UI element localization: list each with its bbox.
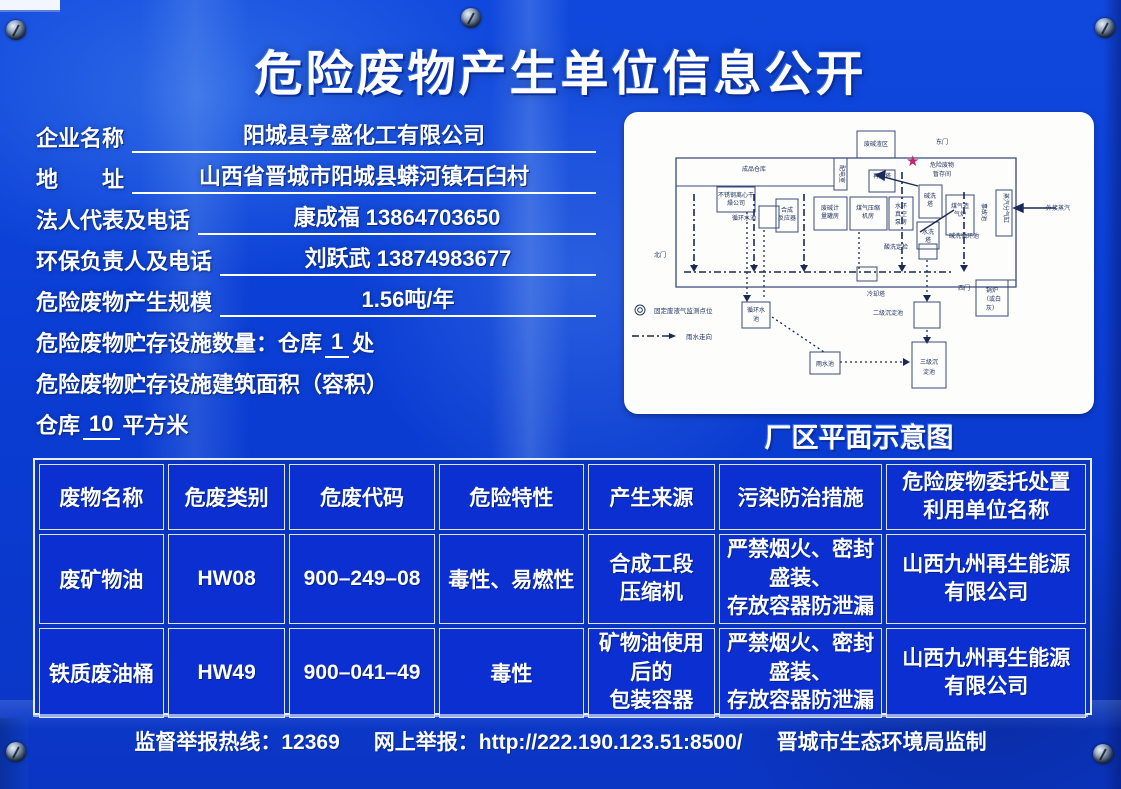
svg-text:循环水: 循环水 [747,306,765,314]
info-row-env-officer: 环保负责人及电话 刘跃武 13874983677 [36,235,596,276]
svg-text:锅炉: 锅炉 [986,286,998,294]
info-row-legal-rep: 法人代表及电话 康成福 13864703650 [36,194,596,235]
cell-hazard-property: 毒性 [439,628,584,718]
cell-unit-line2: 有限公司 [888,673,1084,701]
info-value: 10 [83,411,119,440]
svg-text:蒸汽分气缸: 蒸汽分气缸 [1002,193,1010,223]
cell-source: 矿物油使用后的 包装容器 [588,628,715,718]
screw-icon [461,8,481,28]
info-row-storage-count: 危险废物贮存设施数量：仓库 1 处 [36,317,596,358]
svg-text:合成: 合成 [781,206,793,214]
header-hazard-property: 危险特性 [439,464,584,530]
info-unit: 平方米 [123,408,189,440]
header-waste-category: 危废类别 [168,464,286,530]
svg-text:废碱计: 废碱计 [821,204,839,212]
header-waste-name: 废物名称 [39,464,164,530]
info-label: 环保负责人及电话 [36,244,212,276]
svg-text:废碱渣区: 废碱渣区 [864,140,888,148]
cell-waste-category: HW49 [168,628,286,718]
page-title: 危险废物产生单位信息公开 [0,34,1121,104]
table-header-row: 废物名称 危废类别 危废代码 危险特性 产生来源 污染防治措施 危险废物委托处置… [39,464,1086,530]
info-label: 危险废物贮存设施建筑面积（容积） [36,367,388,399]
cell-measures-line1: 严禁烟火、密封盛装、 [721,536,881,593]
svg-text:机房: 机房 [862,212,874,220]
info-row-storage-area-value: 仓库 10 平方米 [36,399,596,440]
cell-measures-line2: 存放容器防泄漏 [721,687,881,715]
svg-text:燥公司: 燥公司 [727,199,745,207]
cell-source: 合成工段 压缩机 [588,534,715,624]
cell-control-measures: 严禁烟火、密封盛装、 存放容器防泄漏 [719,534,883,624]
svg-text:池: 池 [753,315,759,323]
info-label: 法人代表及电话 [36,203,190,235]
panel-top-edge [0,0,60,12]
cell-measures-line2: 存放容器防泄漏 [721,593,881,621]
svg-text:真空: 真空 [895,210,907,218]
footer-online-report: 网上举报：http://222.190.123.51:8500/ [374,726,743,756]
svg-text:酸洗定检: 酸洗定检 [884,243,908,251]
footer-bar: 监督举报热线：12369 网上举报：http://222.190.123.51:… [0,726,1121,756]
svg-text:反应器: 反应器 [778,214,796,222]
cell-unit-line2: 有限公司 [888,579,1084,607]
info-row-storage-area-heading: 危险废物贮存设施建筑面积（容积） [36,358,596,399]
svg-text:气炉: 气炉 [954,210,966,218]
table-row: 铁质废油桶 HW49 900–041–49 毒性 矿物油使用后的 包装容器 严禁… [39,628,1086,718]
header-source: 产生来源 [588,464,715,530]
info-value: 康成福 13864703650 [198,200,596,235]
info-value: 刘跃武 13874983677 [220,241,596,276]
info-row-company-name: 企业名称 阳城县亨盛化工有限公司 [36,112,596,153]
svg-text:灰）: 灰） [986,304,998,312]
info-row-generation-scale: 危险废物产生规模 1.56吨/年 [36,276,596,317]
cell-waste-category: HW08 [168,534,286,624]
info-label: 危险废物贮存设施数量：仓库 [36,326,322,358]
header-waste-code: 危废代码 [289,464,434,530]
site-plan-container: ★ 固定废液气监测点位 雨水走向 废碱渣区 东门 危险废物 暂存间 再生塔 [624,112,1094,414]
panel-right-edge [1103,0,1121,789]
header-control-measures: 污染防治措施 [719,464,883,530]
svg-text:三级沉: 三级沉 [920,358,938,366]
svg-text:成品仓库: 成品仓库 [742,165,766,173]
site-plan-caption: 厂区平面示意图 [624,416,1094,455]
svg-text:危险废物: 危险废物 [930,161,954,169]
cell-measures-line1: 严禁烟火、密封盛装、 [721,630,881,687]
svg-text:再生塔: 再生塔 [873,172,891,180]
header-disposal-unit-line1: 危险废物委托处置 [888,469,1084,497]
info-value: 1 [325,329,349,358]
svg-text:事故池: 事故池 [980,203,988,221]
svg-text:煤气压缩: 煤气压缩 [856,204,880,212]
info-label: 地 址 [36,162,124,194]
svg-text:循环水池: 循环水池 [732,214,756,222]
svg-text:泵房: 泵房 [895,218,907,226]
svg-text:淀池: 淀池 [923,368,935,376]
cell-source-line2: 包装容器 [590,687,713,715]
cell-disposal-unit: 山西九州再生能源 有限公司 [886,628,1086,718]
info-unit: 处 [352,326,374,358]
svg-text:水环: 水环 [895,202,907,210]
cell-waste-name: 铁质废油桶 [39,628,164,718]
svg-text:量罐房: 量罐房 [821,212,839,220]
svg-text:雨水走向: 雨水走向 [686,332,712,341]
svg-text:外接蒸汽: 外接蒸汽 [1046,204,1070,212]
svg-text:固定废液气监测点位: 固定废液气监测点位 [654,306,713,315]
footer-authority: 晋城市生态环境局监制 [777,726,987,756]
cell-disposal-unit: 山西九州再生能源 有限公司 [886,534,1086,624]
diagram-legend: 固定废液气监测点位 雨水走向 [632,305,713,341]
table-row: 废矿物油 HW08 900–249–08 毒性、易燃性 合成工段 压缩机 严禁烟… [39,534,1086,624]
header-disposal-unit: 危险废物委托处置 利用单位名称 [886,464,1086,530]
svg-text:雨水池: 雨水池 [816,360,834,368]
info-value: 山西省晋城市阳城县蟒河镇石臼村 [132,159,596,194]
info-value: 1.56吨/年 [220,282,596,317]
svg-text:北门: 北门 [654,251,666,259]
site-plan-svg: ★ 固定废液气监测点位 雨水走向 废碱渣区 东门 危险废物 暂存间 再生塔 [624,112,1094,414]
svg-text:东门: 东门 [936,138,948,146]
company-info-block: 企业名称 阳城县亨盛化工有限公司 地 址 山西省晋城市阳城县蟒河镇石臼村 法人代… [36,112,596,440]
info-label: 危险废物产生规模 [36,285,212,317]
svg-text:暂存间: 暂存间 [933,170,951,178]
cell-hazard-property: 毒性、易燃性 [439,534,584,624]
star-marker-icon: ★ [906,153,919,170]
cell-waste-code: 900–249–08 [289,534,434,624]
cell-unit-line1: 山西九州再生能源 [888,645,1084,673]
svg-text:（或白: （或白 [983,295,1001,303]
information-board: 危险废物产生单位信息公开 企业名称 阳城县亨盛化工有限公司 地 址 山西省晋城市… [0,0,1121,789]
svg-text:不锈钢离心干: 不锈钢离心干 [718,191,754,199]
svg-text:冷却塔: 冷却塔 [867,290,885,298]
svg-text:西门: 西门 [958,284,970,292]
info-row-address: 地 址 山西省晋城市阳城县蟒河镇石臼村 [36,153,596,194]
footer-hotline: 监督举报热线：12369 [134,726,339,756]
cell-source-line1: 矿物油使用后的 [590,630,713,687]
hazardous-waste-table: 废物名称 危废类别 危废代码 危险特性 产生来源 污染防治措施 危险废物委托处置… [33,458,1092,715]
svg-text:配电室: 配电室 [838,165,846,183]
svg-text:水洗: 水洗 [922,228,934,236]
footer-divider [33,714,1088,717]
svg-text:碱洗循环池: 碱洗循环池 [949,232,979,240]
svg-text:二级沉淀池: 二级沉淀池 [873,309,903,317]
header-disposal-unit-line2: 利用单位名称 [888,497,1084,525]
svg-text:煤气造: 煤气造 [951,202,969,210]
cell-waste-code: 900–041–49 [289,628,434,718]
svg-text:塔: 塔 [925,236,931,244]
cell-waste-name: 废矿物油 [39,534,164,624]
svg-text:塔: 塔 [927,200,933,208]
info-label: 仓库 [36,408,80,440]
info-value: 阳城县亨盛化工有限公司 [132,118,596,153]
svg-text:碱洗: 碱洗 [924,192,936,200]
cell-source-line2: 压缩机 [590,579,713,607]
info-label: 企业名称 [36,121,124,153]
cell-source-line1: 合成工段 [590,551,713,579]
cell-control-measures: 严禁烟火、密封盛装、 存放容器防泄漏 [719,628,883,718]
cell-unit-line1: 山西九州再生能源 [888,551,1084,579]
site-plan-card: ★ 固定废液气监测点位 雨水走向 废碱渣区 东门 危险废物 暂存间 再生塔 [624,112,1094,414]
